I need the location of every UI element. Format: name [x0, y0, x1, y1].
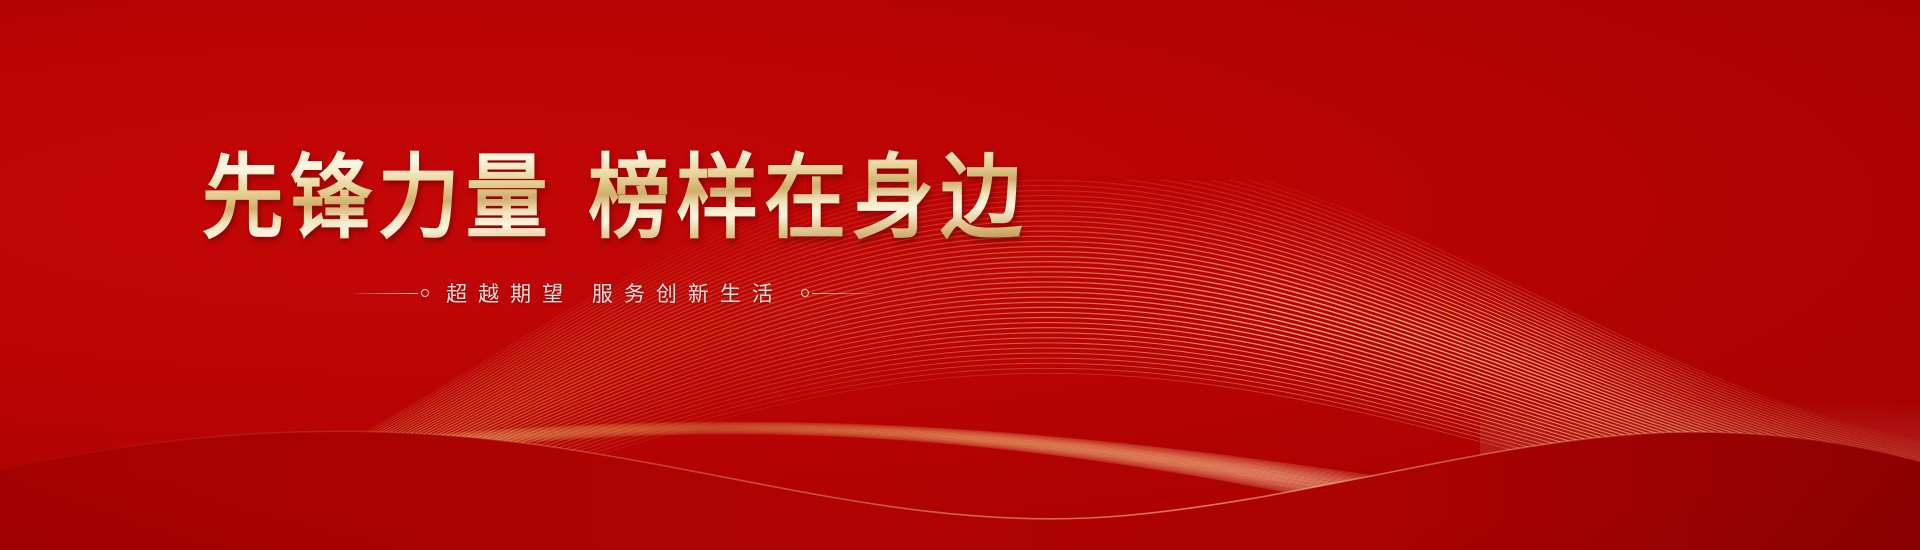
- banner-root: 先锋力量 榜样在身边 超越期望 服务创新生活: [0, 0, 1920, 550]
- main-title: 先锋力量 榜样在身边: [202, 150, 1029, 246]
- line-circle-ornament: [356, 289, 432, 297]
- ornament-line-right: [812, 293, 874, 294]
- title-block: 先锋力量 榜样在身边 超越期望 服务创新生活: [0, 0, 1230, 550]
- ornament-circle-right: [801, 289, 809, 297]
- subtitle-row: 超越期望 服务创新生活: [356, 278, 874, 308]
- subtitle: 超越期望 服务创新生活: [446, 278, 784, 308]
- circle-line-ornament: [798, 289, 874, 297]
- ornament-line-left: [356, 293, 418, 294]
- ornament-circle-left: [421, 289, 429, 297]
